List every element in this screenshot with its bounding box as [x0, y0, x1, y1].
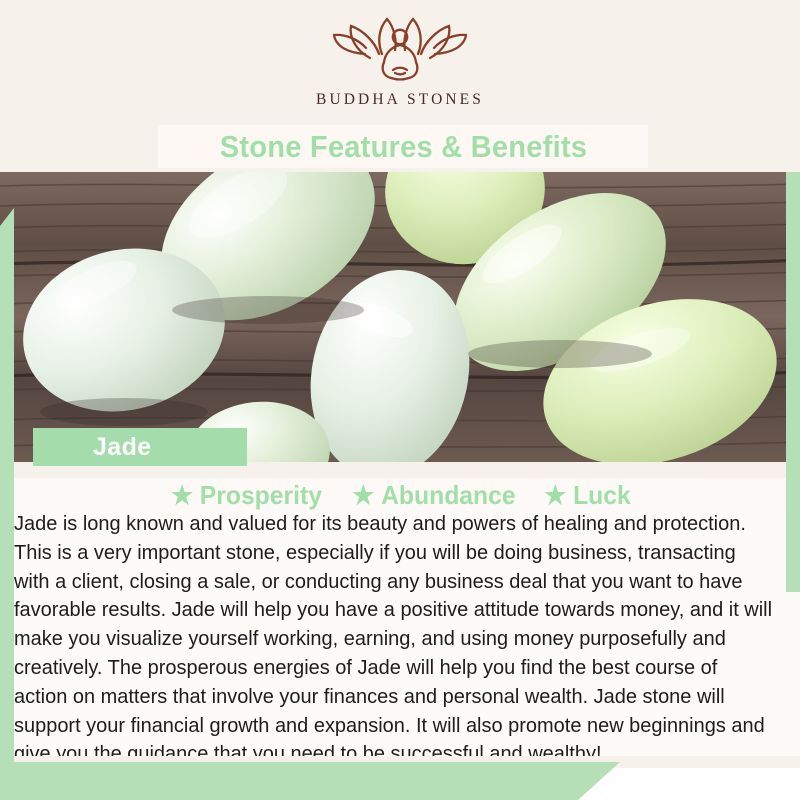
star-icon: ★	[544, 482, 566, 508]
stone-photo	[0, 172, 800, 462]
lotus-meditation-logo-icon	[325, 14, 475, 86]
star-icon: ★	[171, 482, 193, 508]
decor-bar-footer	[0, 762, 620, 800]
description-paragraph: Jade is long known and valued for its be…	[14, 510, 774, 769]
keyword-label: Prosperity	[200, 480, 322, 511]
keyword-item: ★ Prosperity	[171, 480, 322, 511]
star-icon: ★	[352, 482, 374, 508]
page-title: Stone Features & Benefits	[219, 129, 586, 165]
keyword-label: Luck	[573, 480, 631, 511]
poster-root: BUDDHA STONES	[0, 0, 800, 800]
stone-photo-illustration	[0, 172, 800, 462]
keyword-item: ★ Luck	[544, 480, 630, 511]
decor-bar-right	[786, 172, 800, 592]
stone-name-banner: Jade	[33, 428, 247, 466]
decor-bar-left	[0, 208, 14, 800]
brand-logo: BUDDHA STONES	[0, 14, 800, 109]
title-banner: Stone Features & Benefits	[158, 125, 648, 168]
keyword-label: Abundance	[381, 480, 515, 511]
brand-name: BUDDHA STONES	[316, 91, 484, 109]
keyword-list: ★ Prosperity ★ Abundance ★ Luck	[0, 478, 800, 512]
stone-description: Jade is long known and valued for its be…	[14, 510, 774, 769]
keyword-item: ★ Abundance	[352, 480, 515, 511]
stone-name-label: Jade	[93, 433, 152, 462]
